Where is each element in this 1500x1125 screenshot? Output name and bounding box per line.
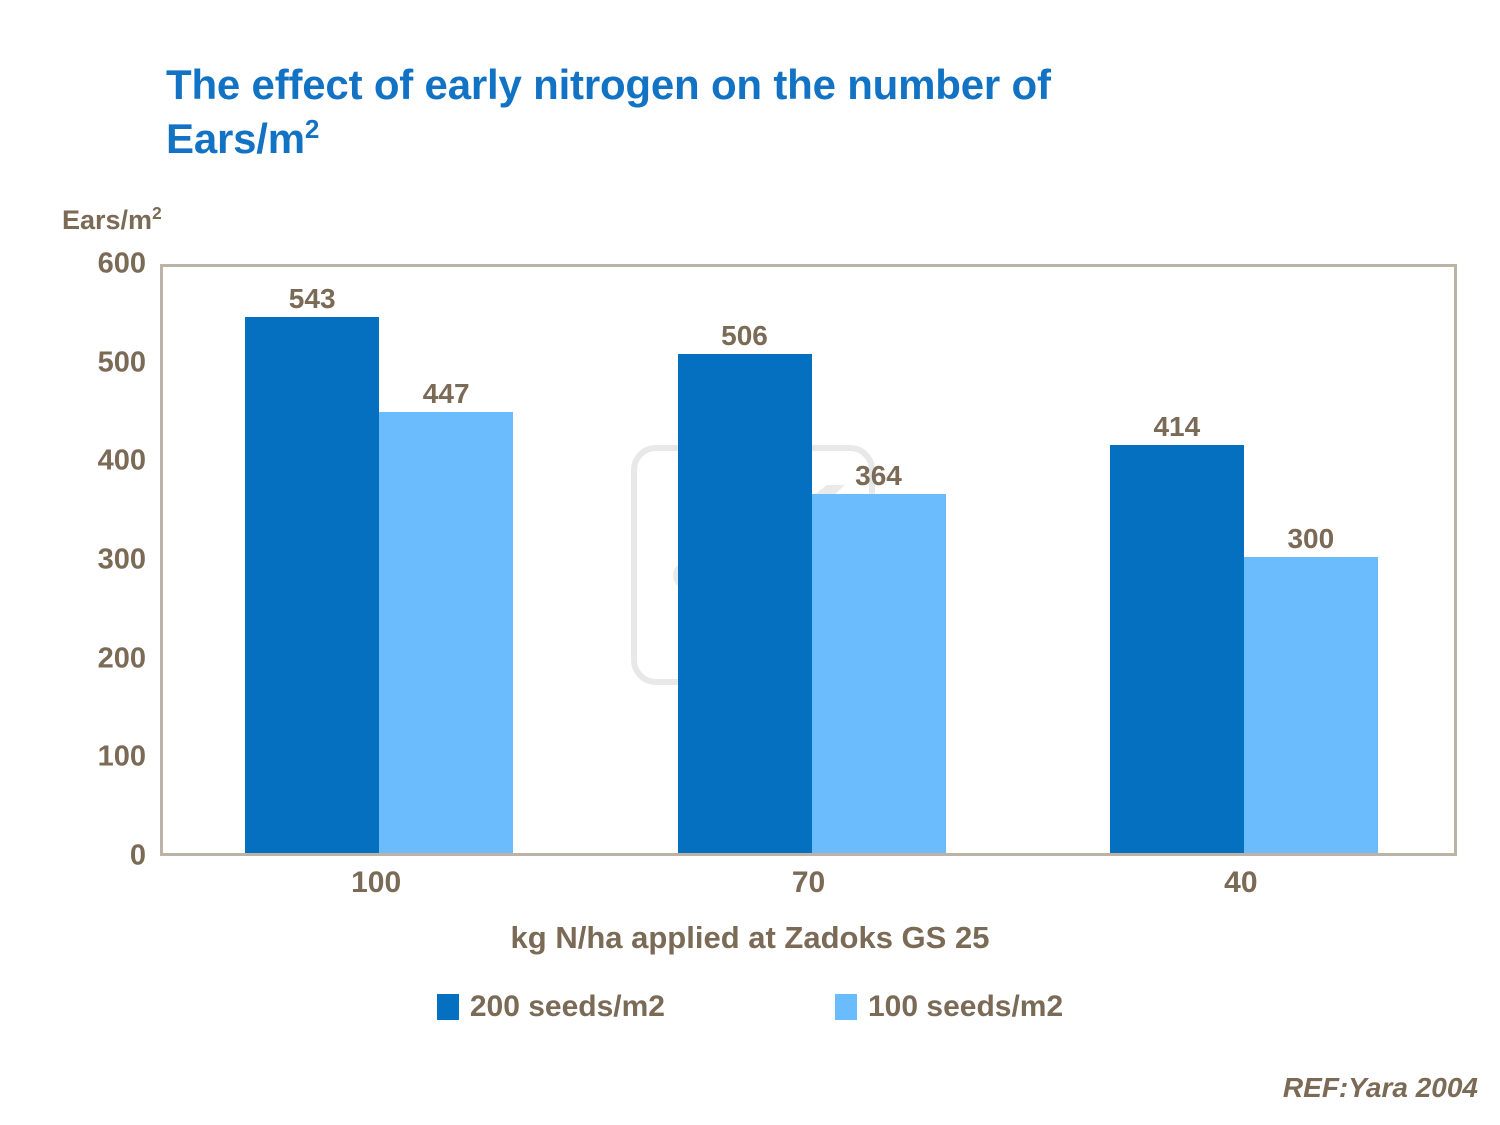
slide-canvas: The effect of early nitrogen on the numb…	[0, 0, 1500, 1125]
y-axis-tick-labels: 0100200300400500600	[36, 264, 146, 856]
y-axis-tick-600: 600	[54, 248, 146, 281]
legend-label: 100 seeds/m2	[868, 990, 1063, 1024]
y-axis-tick-100: 100	[54, 741, 146, 774]
bar-value-label: 447	[379, 378, 513, 410]
x-axis-tick-40: 40	[1224, 866, 1257, 900]
bar-70-series1[interactable]	[678, 354, 812, 853]
legend-item-2[interactable]: 100 seeds/m2	[835, 990, 1063, 1024]
x-axis-tick-100: 100	[351, 866, 401, 900]
bar-value-label: 506	[678, 320, 812, 352]
y-axis-tick-0: 0	[54, 840, 146, 873]
bar-value-label: 300	[1244, 523, 1378, 555]
chart-legend: 200 seeds/m2100 seeds/m2	[0, 990, 1500, 1024]
y-axis-tick-300: 300	[54, 544, 146, 577]
title-line-1: The effect of early nitrogen on the numb…	[166, 61, 1051, 108]
title-superscript: 2	[305, 114, 319, 144]
y-axis-title: Ears/m2	[62, 205, 162, 236]
y-axis-tick-500: 500	[54, 346, 146, 379]
bars-layer: 543447506364414300	[163, 267, 1454, 853]
y-axis-tick-200: 200	[54, 642, 146, 675]
bar-100-series1[interactable]	[245, 317, 379, 853]
x-axis-tick-labels: 1007040	[160, 866, 1457, 916]
title-line-2: Ears/m	[166, 115, 305, 162]
legend-swatch-icon	[835, 994, 857, 1020]
legend-label: 200 seeds/m2	[470, 990, 665, 1024]
y-axis-title-superscript: 2	[152, 203, 162, 223]
x-axis-tick-70: 70	[792, 866, 825, 900]
bar-value-label: 364	[812, 460, 946, 492]
reference-footer: REF:Yara 2004	[1283, 1072, 1478, 1104]
y-axis-title-text: Ears/m	[62, 205, 152, 235]
legend-swatch-icon	[437, 994, 459, 1020]
bar-100-series2[interactable]	[379, 412, 513, 853]
x-axis-title: kg N/ha applied at Zadoks GS 25	[0, 920, 1500, 956]
bar-value-label: 414	[1110, 411, 1244, 443]
bar-70-series2[interactable]	[812, 494, 946, 853]
page-title: The effect of early nitrogen on the numb…	[166, 58, 1286, 166]
bar-value-label: 543	[245, 283, 379, 315]
bar-40-series2[interactable]	[1244, 557, 1378, 853]
legend-item-1[interactable]: 200 seeds/m2	[437, 990, 665, 1024]
plot-area: YARA 543447506364414300	[160, 264, 1457, 856]
y-axis-tick-400: 400	[54, 445, 146, 478]
bar-40-series1[interactable]	[1110, 445, 1244, 853]
